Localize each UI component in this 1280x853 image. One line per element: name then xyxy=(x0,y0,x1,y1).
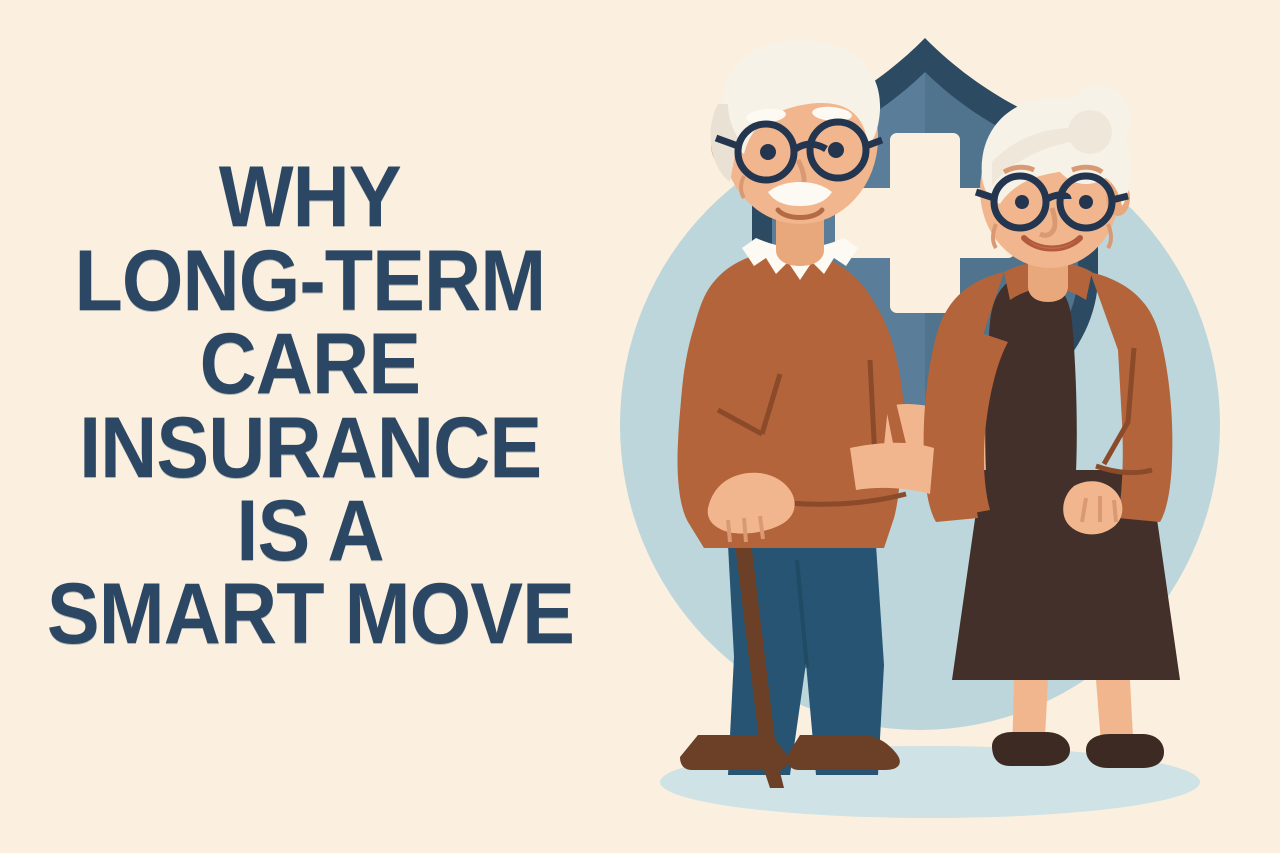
headline-line-5: IS A xyxy=(236,490,383,573)
man-shoe-right xyxy=(787,735,900,770)
woman-pupil-left xyxy=(1015,195,1029,209)
headline-line-1: WHY xyxy=(219,156,401,239)
headline-block: WHY LONG-TERM CARE INSURANCE IS A SMART … xyxy=(0,0,620,853)
man-pupil-left xyxy=(760,144,776,160)
woman-shoe-left xyxy=(992,732,1070,766)
poster-canvas: WHY LONG-TERM CARE INSURANCE IS A SMART … xyxy=(0,0,1280,853)
headline-line-3: CARE xyxy=(200,323,421,406)
elderly-couple-illustration xyxy=(600,0,1280,853)
woman-pupil-right xyxy=(1079,195,1093,209)
woman-forearm-left xyxy=(850,443,934,494)
headline-line-4: INSURANCE xyxy=(79,407,541,490)
headline-line-6: SMART MOVE xyxy=(46,573,573,656)
headline-line-2: LONG-TERM xyxy=(75,240,546,323)
woman-shoe-right xyxy=(1086,734,1164,768)
woman-blouse xyxy=(985,275,1077,472)
man-pupil-right xyxy=(828,142,844,158)
